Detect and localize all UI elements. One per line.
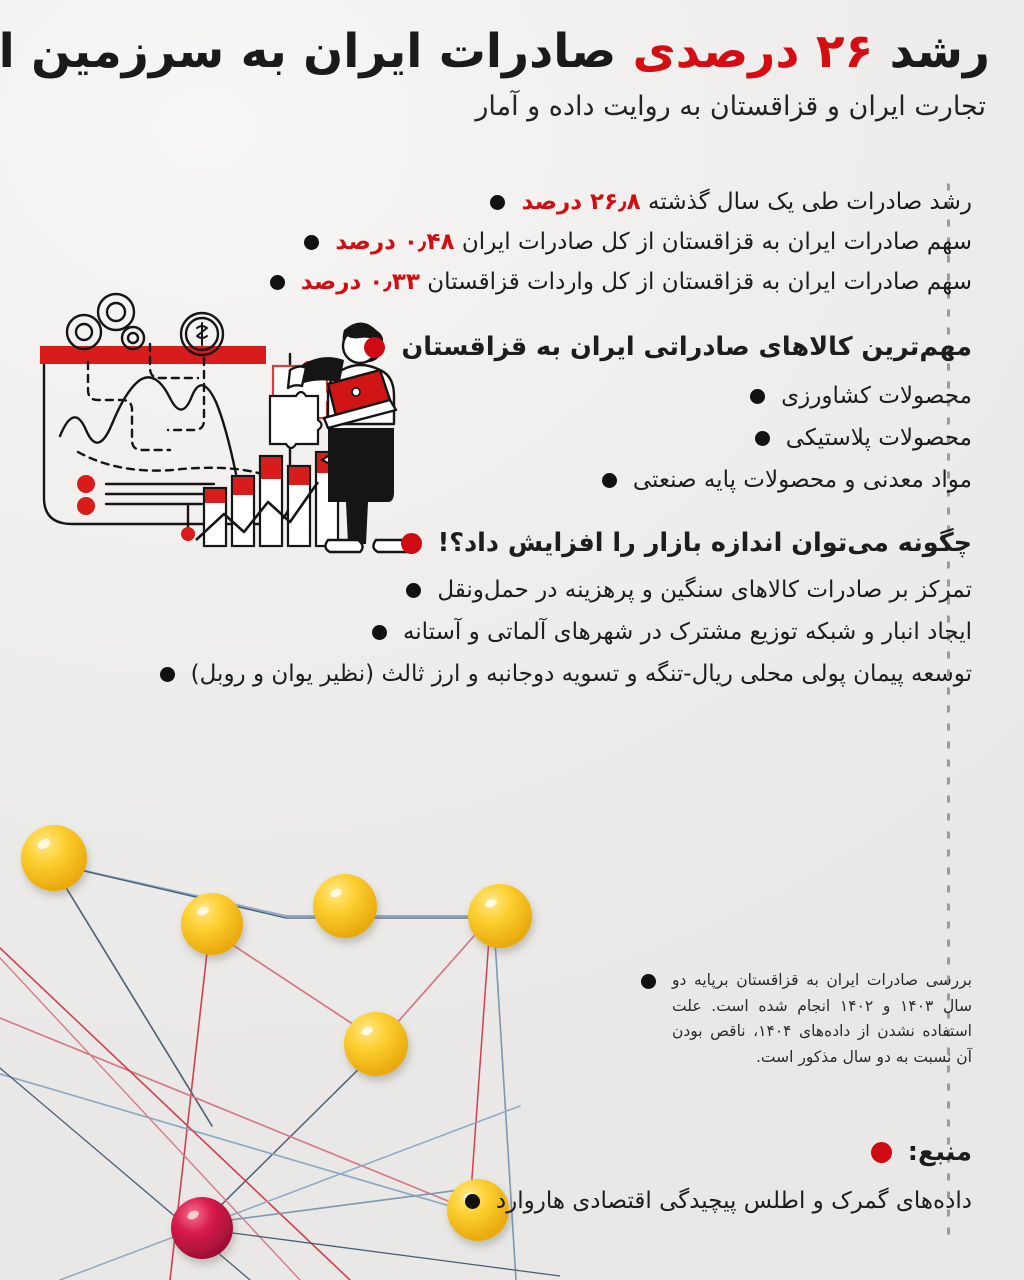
bullet-dot [160, 667, 175, 682]
stat-text-0: رشد صادرات طی یک سال گذشته ۲۶٫۸ درصد [521, 188, 972, 217]
section-heading-goods-label: مهم‌ترین کالاهای صادراتی ایران به قزاقست… [401, 332, 972, 364]
section-bullet-red [401, 533, 422, 554]
bullet-dot [304, 235, 319, 250]
stat-row-0: رشد صادرات طی یک سال گذشته ۲۶٫۸ درصد [490, 188, 972, 217]
bullet-dot [465, 1194, 480, 1209]
bullet-dot [755, 431, 770, 446]
stat-label-0: رشد صادرات طی یک سال گذشته [641, 189, 972, 215]
stat-text-1: سهم صادرات ایران به قزاقستان از کل صادرا… [335, 228, 972, 257]
section-heading-market-label: چگونه می‌توان اندازه بازار را افزایش داد… [438, 528, 972, 560]
bullet-dot [406, 583, 421, 598]
title-highlight: ۲۶ درصدی [633, 24, 874, 79]
market-item-1-label: ایجاد انبار و شبکه توزیع مشترک در شهرهای… [403, 618, 972, 647]
title-suffix: صادرات ایران به سرزمین اورانیوم [0, 24, 633, 79]
market-item-1: ایجاد انبار و شبکه توزیع مشترک در شهرهای… [372, 618, 972, 647]
section-heading-goods: مهم‌ترین کالاهای صادراتی ایران به قزاقست… [364, 332, 972, 364]
bullet-dot [750, 389, 765, 404]
page-subtitle: تجارت ایران و قزاقستان به روایت داده و آ… [0, 79, 1024, 124]
stat-value-0: ۲۶٫۸ درصد [521, 189, 640, 215]
stat-row-1: سهم صادرات ایران به قزاقستان از کل صادرا… [304, 228, 972, 257]
section-heading-market: چگونه می‌توان اندازه بازار را افزایش داد… [401, 528, 972, 560]
goods-item-1-label: محصولات پلاستیکی [786, 424, 972, 453]
bullet-dot [490, 195, 505, 210]
bullet-dot [270, 275, 285, 290]
section-bullet-red [364, 337, 385, 358]
content-column: رشد صادرات طی یک سال گذشته ۲۶٫۸ درصد سهم… [0, 0, 1024, 1280]
stat-label-1: سهم صادرات ایران به قزاقستان از کل صادرا… [455, 229, 972, 255]
goods-item-0: محصولات کشاورزی [750, 382, 972, 411]
bullet-dot [641, 974, 656, 989]
market-item-2: توسعه پیمان پولی محلی ریال-تنگه و تسویه … [160, 660, 972, 689]
stat-value-2: ۰٫۳۳ درصد [301, 269, 420, 295]
note-row: بررسی صادرات ایران به قزاقستان برپایه دو… [641, 968, 972, 1070]
source-item-row: داده‌های گمرک و اطلس پیچیدگی اقتصادی هار… [465, 1187, 972, 1216]
header: رشد ۲۶ درصدی صادرات ایران به سرزمین اورا… [0, 0, 1024, 124]
goods-item-2: مواد معدنی و محصولات پایه صنعتی [602, 466, 972, 495]
market-item-0: تمرکز بر صادرات کالاهای سنگین و پرهزینه … [406, 576, 972, 605]
bullet-dot [372, 625, 387, 640]
source-heading-label: منبع: [908, 1137, 972, 1169]
goods-item-0-label: محصولات کشاورزی [781, 382, 972, 411]
stat-value-1: ۰٫۴۸ درصد [335, 229, 454, 255]
bullet-dot [602, 473, 617, 488]
section-bullet-red [871, 1142, 892, 1163]
page-title: رشد ۲۶ درصدی صادرات ایران به سرزمین اورا… [0, 0, 1024, 79]
stat-label-2: سهم صادرات ایران به قزاقستان از کل واردا… [420, 269, 972, 295]
source-heading-row: منبع: [871, 1137, 972, 1169]
source-item-label: داده‌های گمرک و اطلس پیچیدگی اقتصادی هار… [496, 1187, 972, 1216]
stat-row-2: سهم صادرات ایران به قزاقستان از کل واردا… [270, 268, 972, 297]
title-prefix: رشد [873, 24, 990, 79]
market-item-0-label: تمرکز بر صادرات کالاهای سنگین و پرهزینه … [437, 576, 972, 605]
stat-text-2: سهم صادرات ایران به قزاقستان از کل واردا… [301, 268, 972, 297]
note-text: بررسی صادرات ایران به قزاقستان برپایه دو… [672, 968, 972, 1070]
goods-item-2-label: مواد معدنی و محصولات پایه صنعتی [633, 466, 972, 495]
market-item-2-label: توسعه پیمان پولی محلی ریال-تنگه و تسویه … [191, 660, 972, 689]
goods-item-1: محصولات پلاستیکی [755, 424, 972, 453]
